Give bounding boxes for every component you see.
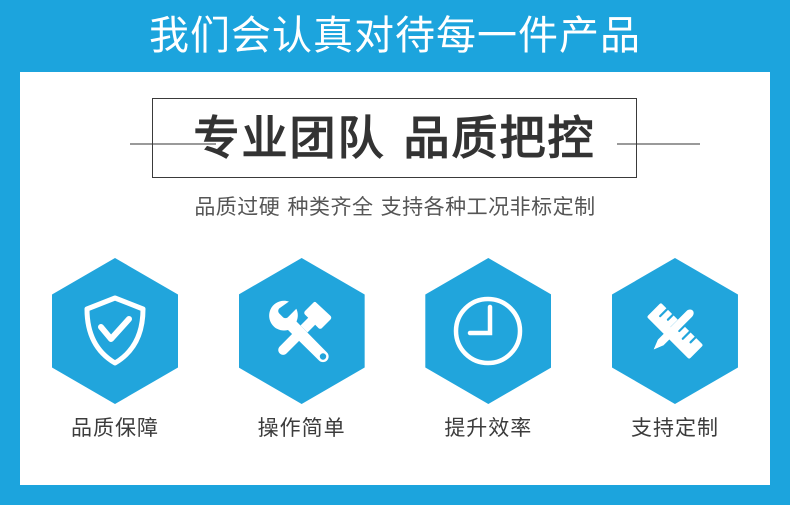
feature-label-easy-operation: 操作简单 bbox=[258, 418, 346, 439]
product-promo-banner: 我们会认真对待每一件产品 专业团队 品质把控 品质过硬 种类齐全 支持各种工况非… bbox=[0, 0, 790, 505]
heading-block: 专业团队 品质把控 bbox=[20, 98, 770, 190]
hexagon-shape-efficiency bbox=[425, 258, 551, 404]
feature-item-efficiency[interactable]: 提升效率 bbox=[423, 258, 553, 439]
feature-item-customization[interactable]: 支持定制 bbox=[610, 258, 740, 439]
shield-check-icon bbox=[80, 294, 150, 368]
feature-label-efficiency: 提升效率 bbox=[444, 418, 532, 439]
clock-icon bbox=[450, 293, 526, 369]
heading-title: 专业团队 品质把控 bbox=[193, 115, 595, 161]
subtitle-text: 品质过硬 种类齐全 支持各种工况非标定制 bbox=[20, 197, 770, 218]
banner-headline: 我们会认真对待每一件产品 bbox=[0, 0, 790, 72]
feature-label-quality: 品质保障 bbox=[71, 418, 159, 439]
feature-list: 品质保障 操作简单 bbox=[50, 258, 740, 448]
inner-white-panel: 专业团队 品质把控 品质过硬 种类齐全 支持各种工况非标定制 品质保障 bbox=[20, 72, 770, 485]
feature-item-easy-operation[interactable]: 操作简单 bbox=[237, 258, 367, 439]
hexagon-shape-customization bbox=[612, 258, 738, 404]
feature-label-customization: 支持定制 bbox=[631, 418, 719, 439]
heading-box: 专业团队 品质把控 bbox=[152, 98, 637, 178]
wrench-hammer-icon bbox=[264, 293, 340, 369]
feature-item-quality[interactable]: 品质保障 bbox=[50, 258, 180, 439]
hexagon-shape-quality bbox=[52, 258, 178, 404]
ruler-pen-icon bbox=[635, 291, 715, 371]
hexagon-shape-easy-operation bbox=[239, 258, 365, 404]
